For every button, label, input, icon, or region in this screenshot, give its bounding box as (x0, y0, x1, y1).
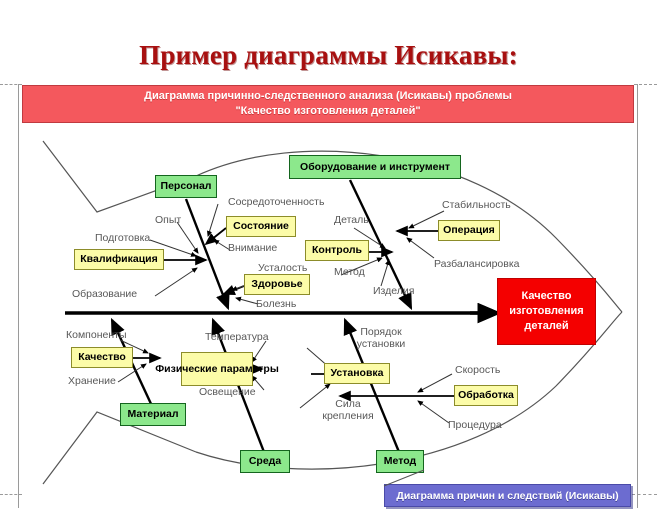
subcause-method: Метод (334, 266, 365, 278)
cause-box-setup[interactable]: Установка (324, 363, 390, 384)
footer-caption: Диаграмма причин и следствий (Исикавы) (384, 484, 631, 507)
cause-box-condition[interactable]: Состояние (226, 216, 296, 237)
bone-personal (186, 199, 228, 308)
cause-box-phys-params[interactable]: Физические параметры (181, 352, 253, 386)
subcause-clamp-force: Сила крепления (322, 398, 374, 422)
cause-box-quality[interactable]: Качество (71, 347, 133, 368)
cause-box-phys-params-label: Физические параметры (155, 363, 279, 375)
subcause-concentration: Сосредоточенность (228, 196, 324, 208)
category-box-equipment[interactable]: Оборудование и инструмент (289, 155, 461, 179)
subcause-fatigue: Усталость (258, 262, 307, 274)
cause-box-health[interactable]: Здоровье (244, 274, 310, 295)
subcause-temperature: Температура (205, 331, 269, 343)
category-box-environment[interactable]: Среда (240, 450, 290, 473)
subcause-attention: Внимание (228, 242, 277, 254)
effect-line-3: деталей (524, 319, 568, 334)
category-box-material[interactable]: Материал (120, 403, 186, 426)
subcause-education: Образование (72, 288, 137, 300)
subcause-storage: Хранение (68, 375, 116, 387)
cause-box-operation[interactable]: Операция (438, 220, 500, 241)
subcause-illness: Болезнь (256, 298, 296, 310)
cause-box-processing[interactable]: Обработка (454, 385, 518, 406)
subcause-training: Подготовка (95, 232, 150, 244)
subcause-components: Компоненты (66, 329, 127, 341)
cause-box-control[interactable]: Контроль (305, 240, 369, 261)
subcause-imbalance: Разбалансировка (434, 258, 520, 270)
subcause-speed: Скорость (455, 364, 500, 376)
category-box-method[interactable]: Метод (376, 450, 424, 473)
cause-box-qualification[interactable]: Квалификация (74, 249, 164, 270)
slide-canvas: Пример диаграммы Исикавы: Диаграмма прич… (0, 0, 657, 514)
subcause-detail: Деталь (334, 214, 369, 226)
effect-line-1: Качество (522, 289, 572, 304)
subcause-install-order: Порядок установки (350, 326, 412, 350)
subcause-procedure: Процедура (448, 419, 502, 431)
subcause-products: Изделия (373, 285, 414, 297)
effect-box: Качество изготовления деталей (497, 278, 596, 345)
effect-line-2: изготовления (509, 304, 583, 319)
category-box-personal[interactable]: Персонал (155, 175, 217, 198)
subcause-experience: Опыт (155, 214, 181, 226)
subcause-stability: Стабильность (442, 199, 511, 211)
subcause-lighting: Освещение (199, 386, 256, 398)
